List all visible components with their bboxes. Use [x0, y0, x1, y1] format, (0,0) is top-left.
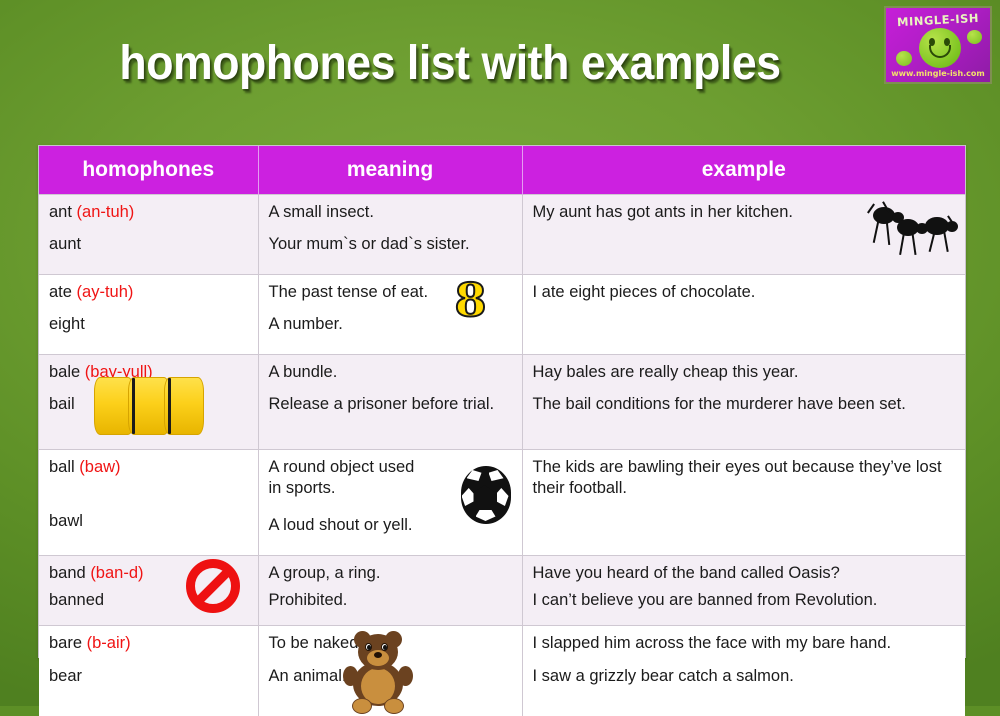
- smiley-mouth: [929, 45, 951, 58]
- cell-meaning: To be naked. An animal.: [258, 626, 522, 716]
- homophones-table: homophones meaning example ant (an-tuh) …: [39, 146, 965, 716]
- meaning-line: A number.: [269, 314, 512, 335]
- example-line: I slapped him across the face with my ba…: [533, 633, 956, 654]
- table-row: ate (ay-tuh) eight The past tense of eat…: [39, 274, 965, 354]
- logo-website-url: www.mingle-ish.com: [886, 69, 990, 78]
- meaning-line: An animal.: [269, 666, 512, 687]
- table-header-row: homophones meaning example: [39, 146, 965, 194]
- table-row: ball (baw) bawl A round object used in s…: [39, 449, 965, 555]
- meaning-line: To be naked.: [269, 633, 512, 654]
- phonetic-spelling: (baw): [79, 458, 120, 476]
- cell-homophones: ate (ay-tuh) eight: [39, 274, 258, 354]
- table-row: bale (bay-yull) bail A bundle.: [39, 354, 965, 449]
- word-primary: ate (ay-tuh): [49, 282, 248, 303]
- cell-meaning: The past tense of eat. A number. 8: [258, 274, 522, 354]
- example-line: I can’t believe you are banned from Revo…: [533, 590, 956, 611]
- word-secondary: eight: [49, 314, 248, 335]
- word-secondary: bawl: [49, 511, 248, 532]
- logo-brand-name: MINGLE-ISH: [886, 10, 991, 29]
- phonetic-spelling: (ban-d): [90, 564, 143, 582]
- word-secondary: bail: [49, 394, 248, 415]
- homophones-table-container: homophones meaning example ant (an-tuh) …: [38, 145, 966, 658]
- table-row: bare (b-air) bear To be naked. An animal…: [39, 626, 965, 716]
- word-secondary: aunt: [49, 234, 248, 255]
- example-line: I saw a grizzly bear catch a salmon.: [533, 666, 956, 687]
- cell-meaning: A small insect. Your mum`s or dad`s sist…: [258, 194, 522, 274]
- page-header: homophones list with examples MINGLE-ISH…: [0, 0, 1000, 125]
- meaning-line: A small insect.: [269, 202, 512, 223]
- logo-decor-dot-left: [896, 51, 912, 66]
- cell-example: I slapped him across the face with my ba…: [522, 626, 965, 716]
- cell-meaning: A round object used in sports. A loud sh…: [258, 449, 522, 555]
- cell-example: My aunt has got ants in her kitchen.: [522, 194, 965, 274]
- smiley-face-icon: [919, 28, 961, 68]
- meaning-line: A round object used in sports.: [269, 457, 429, 499]
- page-background: homophones list with examples MINGLE-ISH…: [0, 0, 1000, 706]
- column-header-meaning: meaning: [258, 146, 522, 194]
- word-primary: band (ban-d): [49, 563, 248, 584]
- phonetic-spelling: (bay-yull): [85, 363, 153, 381]
- phonetic-spelling: (ay-tuh): [77, 283, 134, 301]
- word-primary: ant (an-tuh): [49, 202, 248, 223]
- cell-example: The kids are bawling their eyes out beca…: [522, 449, 965, 555]
- cell-example: I ate eight pieces of chocolate.: [522, 274, 965, 354]
- cell-example: Hay bales are really cheap this year. Th…: [522, 354, 965, 449]
- meaning-line: Prohibited.: [269, 590, 512, 611]
- example-line: Hay bales are really cheap this year.: [533, 362, 956, 383]
- page-title: homophones list with examples: [32, 36, 869, 91]
- column-header-homophones: homophones: [39, 146, 258, 194]
- table-row: band (ban-d) banned A group, a ring. Pro…: [39, 556, 965, 626]
- example-line: The bail conditions for the murderer hav…: [533, 394, 956, 415]
- logo-decor-dot-right: [967, 30, 982, 44]
- example-line: I ate eight pieces of chocolate.: [533, 282, 956, 303]
- word-primary: bare (b-air): [49, 633, 248, 654]
- cell-homophones: band (ban-d) banned: [39, 556, 258, 626]
- meaning-line: A group, a ring.: [269, 563, 512, 584]
- cell-example: Have you heard of the band called Oasis?…: [522, 556, 965, 626]
- word-primary: bale (bay-yull): [49, 362, 248, 383]
- meaning-line: A bundle.: [269, 362, 512, 383]
- cell-meaning: A group, a ring. Prohibited.: [258, 556, 522, 626]
- cell-homophones: bare (b-air) bear: [39, 626, 258, 716]
- meaning-line: The past tense of eat.: [269, 282, 512, 303]
- phonetic-spelling: (b-air): [87, 634, 131, 652]
- cell-homophones: ant (an-tuh) aunt: [39, 194, 258, 274]
- table-row: ant (an-tuh) aunt A small insect. Your m…: [39, 194, 965, 274]
- meaning-line: Release a prisoner before trial.: [269, 394, 512, 415]
- example-line: Have you heard of the band called Oasis?: [533, 563, 956, 584]
- cell-homophones: bale (bay-yull) bail: [39, 354, 258, 449]
- example-line: My aunt has got ants in her kitchen.: [533, 202, 956, 223]
- word-secondary: banned: [49, 590, 248, 611]
- meaning-line: Your mum`s or dad`s sister.: [269, 234, 512, 255]
- column-header-example: example: [522, 146, 965, 194]
- phonetic-spelling: (an-tuh): [77, 203, 135, 221]
- mingle-ish-logo[interactable]: MINGLE-ISH www.mingle-ish.com: [884, 6, 992, 84]
- meaning-line: A loud shout or yell.: [269, 515, 512, 536]
- word-primary: ball (baw): [49, 457, 248, 478]
- example-line: The kids are bawling their eyes out beca…: [533, 457, 956, 499]
- word-secondary: bear: [49, 666, 248, 687]
- cell-meaning: A bundle. Release a prisoner before tria…: [258, 354, 522, 449]
- cell-homophones: ball (baw) bawl: [39, 449, 258, 555]
